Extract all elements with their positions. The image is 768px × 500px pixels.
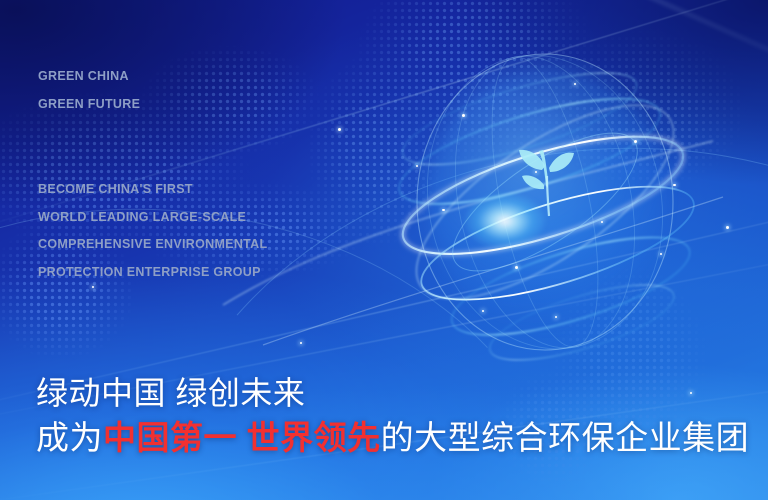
sprout-icon [515,146,577,224]
headline-prefix: 成为 [36,419,103,456]
particle [726,226,729,229]
headline-accent: 中国第一 世界领先 [103,419,381,456]
particle [482,310,484,312]
headline-line-2: 成为中国第一 世界领先的大型综合环保企业集团 [36,419,749,458]
hero-banner: GREEN CHINA GREEN FUTURE BECOME CHINA'S … [0,0,768,500]
mission-line-2: WORLD LEADING LARGE-SCALE [38,211,267,224]
particle [634,140,637,143]
particle [416,165,418,167]
mission-line-3: COMPREHENSIVE ENVIRONMENTAL [38,238,267,251]
mission-line-4: PROTECTION ENTERPRISE GROUP [38,266,267,279]
mission-line-1: BECOME CHINA'S FIRST [38,183,267,196]
english-tagline: GREEN CHINA GREEN FUTURE [38,70,140,110]
particle [338,128,341,131]
english-mission-statement: BECOME CHINA'S FIRST WORLD LEADING LARGE… [38,183,267,278]
wireframe-globe [383,45,713,360]
chinese-headline: 绿动中国 绿创未来 成为中国第一 世界领先的大型综合环保企业集团 [36,375,749,458]
particle [673,184,676,187]
tagline-line-1: GREEN CHINA [38,70,140,83]
particle [515,266,518,269]
headline-suffix: 的大型综合环保企业集团 [381,419,750,456]
headline-line-1: 绿动中国 绿创未来 [36,375,749,413]
particle [92,286,94,288]
particle [535,171,537,173]
particle [300,342,302,344]
tagline-line-2: GREEN FUTURE [38,98,140,111]
